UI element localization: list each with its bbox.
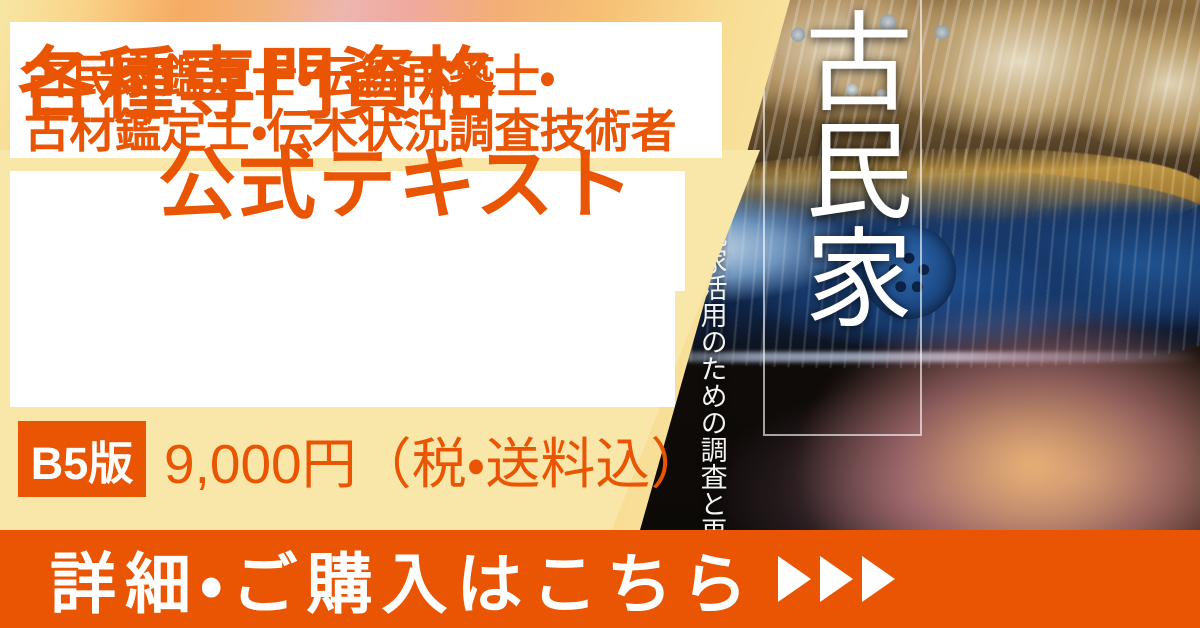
- cta-bar[interactable]: 詳細・ご購入はこちら: [0, 530, 1200, 628]
- promo-banner: 伝統構法、古民家活用のための調査と再生の 古民家 古民家鑑定士・伝統再築士・ 古…: [0, 0, 1200, 628]
- price-row: B5版 9,000円（税・送料込）: [18, 421, 705, 497]
- book-cover-title: 古民家: [772, 6, 912, 330]
- format-badge: B5版: [18, 421, 146, 497]
- cta-label: 詳細・ご購入はこちら: [50, 531, 756, 627]
- triangle-right-icon: [820, 556, 853, 602]
- cta-arrow-group: [778, 556, 895, 602]
- cover-photo-warm-glow: [800, 300, 1200, 540]
- triangle-right-icon: [778, 556, 811, 602]
- headline-line-2: 公式テキスト: [158, 122, 636, 234]
- headline-line-1: 各種専門資格: [18, 22, 498, 134]
- triangle-right-icon: [862, 556, 895, 602]
- price-amount: 9,000円（税・送料込）: [164, 419, 705, 499]
